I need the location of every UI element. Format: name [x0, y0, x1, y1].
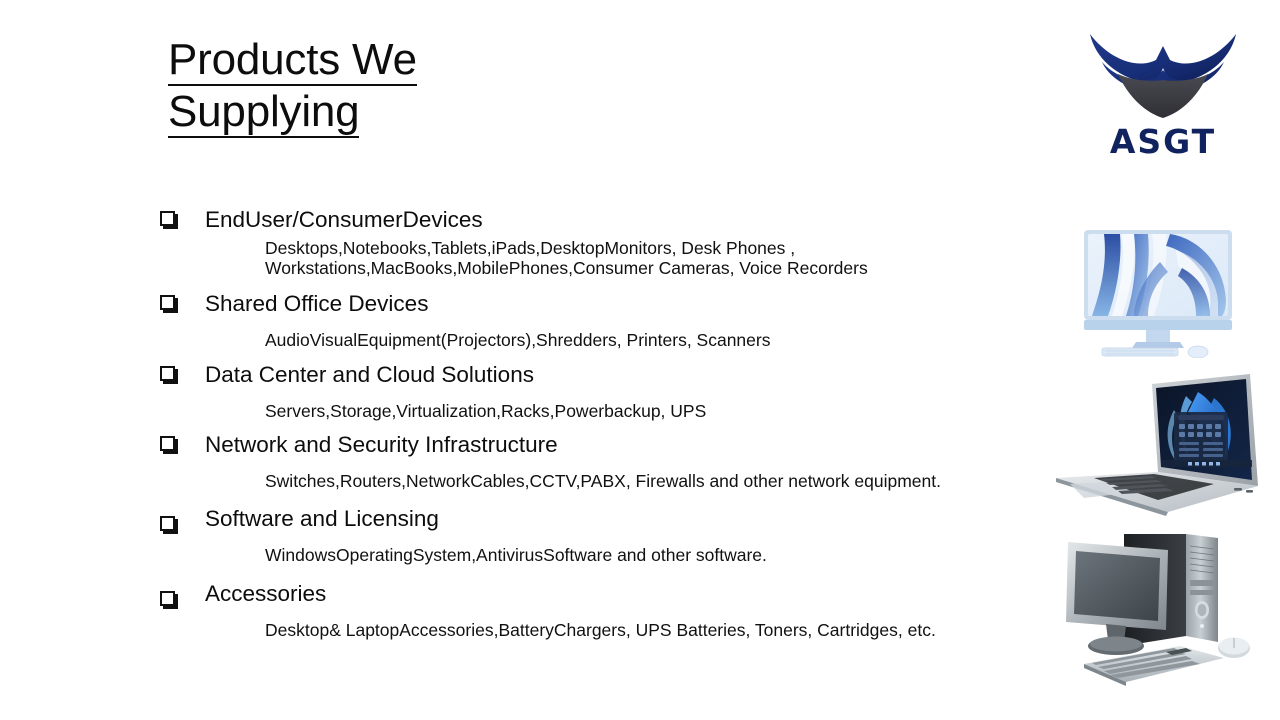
category-heading-row: Network and Security Infrastructure — [155, 431, 1070, 461]
category-group: Network and Security Infrastructure Swit… — [155, 431, 1070, 492]
category-details: Switches,Routers,NetworkCables,CCTV,PABX… — [155, 472, 1070, 492]
laptop-photo — [1048, 372, 1263, 520]
checkbox-square-icon — [160, 366, 175, 381]
category-group: Accessories Desktop& LaptopAccessories,B… — [155, 580, 1070, 641]
checkbox-square-icon — [160, 436, 175, 451]
desktop-pc-photo — [1062, 524, 1258, 696]
category-heading: Accessories — [205, 581, 326, 606]
checkbox-square-icon — [160, 516, 175, 531]
logo-wordmark: ASGT — [1078, 122, 1248, 161]
category-heading: Data Center and Cloud Solutions — [205, 362, 534, 387]
category-group: EndUser/ConsumerDevices Desktops,Noteboo… — [155, 206, 1070, 278]
category-details: Servers,Storage,Virtualization,Racks,Pow… — [155, 402, 1070, 422]
asgt-logo: ASGT — [1078, 18, 1248, 163]
category-details: AudioVisualEquipment(Projectors),Shredde… — [155, 331, 1070, 351]
product-category-list: EndUser/ConsumerDevices Desktops,Noteboo… — [155, 206, 1070, 640]
slide-canvas: Products We Supplying ASG — [0, 0, 1280, 720]
category-group: Data Center and Cloud Solutions Servers,… — [155, 361, 1070, 422]
category-details: Desktop& LaptopAccessories,BatteryCharge… — [155, 621, 1070, 641]
logo-shield — [1118, 74, 1208, 118]
category-group: Shared Office Devices AudioVisualEquipme… — [155, 290, 1070, 351]
category-heading-row: Data Center and Cloud Solutions — [155, 361, 1070, 391]
page-title: Products We Supplying — [168, 36, 688, 138]
checkbox-square-icon — [160, 295, 175, 310]
checkbox-square-icon — [160, 211, 175, 226]
checkbox-square-icon — [160, 591, 175, 606]
page-title-line-2: Supplying — [168, 88, 359, 138]
category-heading: EndUser/ConsumerDevices — [205, 207, 483, 232]
category-heading-row: Shared Office Devices — [155, 290, 1070, 320]
category-heading-row: EndUser/ConsumerDevices — [155, 206, 1070, 236]
category-group: Software and Licensing WindowsOperatingS… — [155, 505, 1070, 566]
category-heading: Software and Licensing — [205, 506, 439, 531]
category-heading: Network and Security Infrastructure — [205, 432, 558, 457]
category-heading: Shared Office Devices — [205, 291, 428, 316]
category-heading-row: Accessories — [155, 580, 1070, 610]
category-details: WindowsOperatingSystem,AntivirusSoftware… — [155, 546, 1070, 566]
category-details: Desktops,Notebooks,Tablets,iPads,Desktop… — [155, 239, 1070, 278]
imac-desktop-photo — [1078, 228, 1238, 358]
page-title-line-1: Products We — [168, 36, 417, 86]
category-heading-row: Software and Licensing — [155, 505, 1070, 535]
